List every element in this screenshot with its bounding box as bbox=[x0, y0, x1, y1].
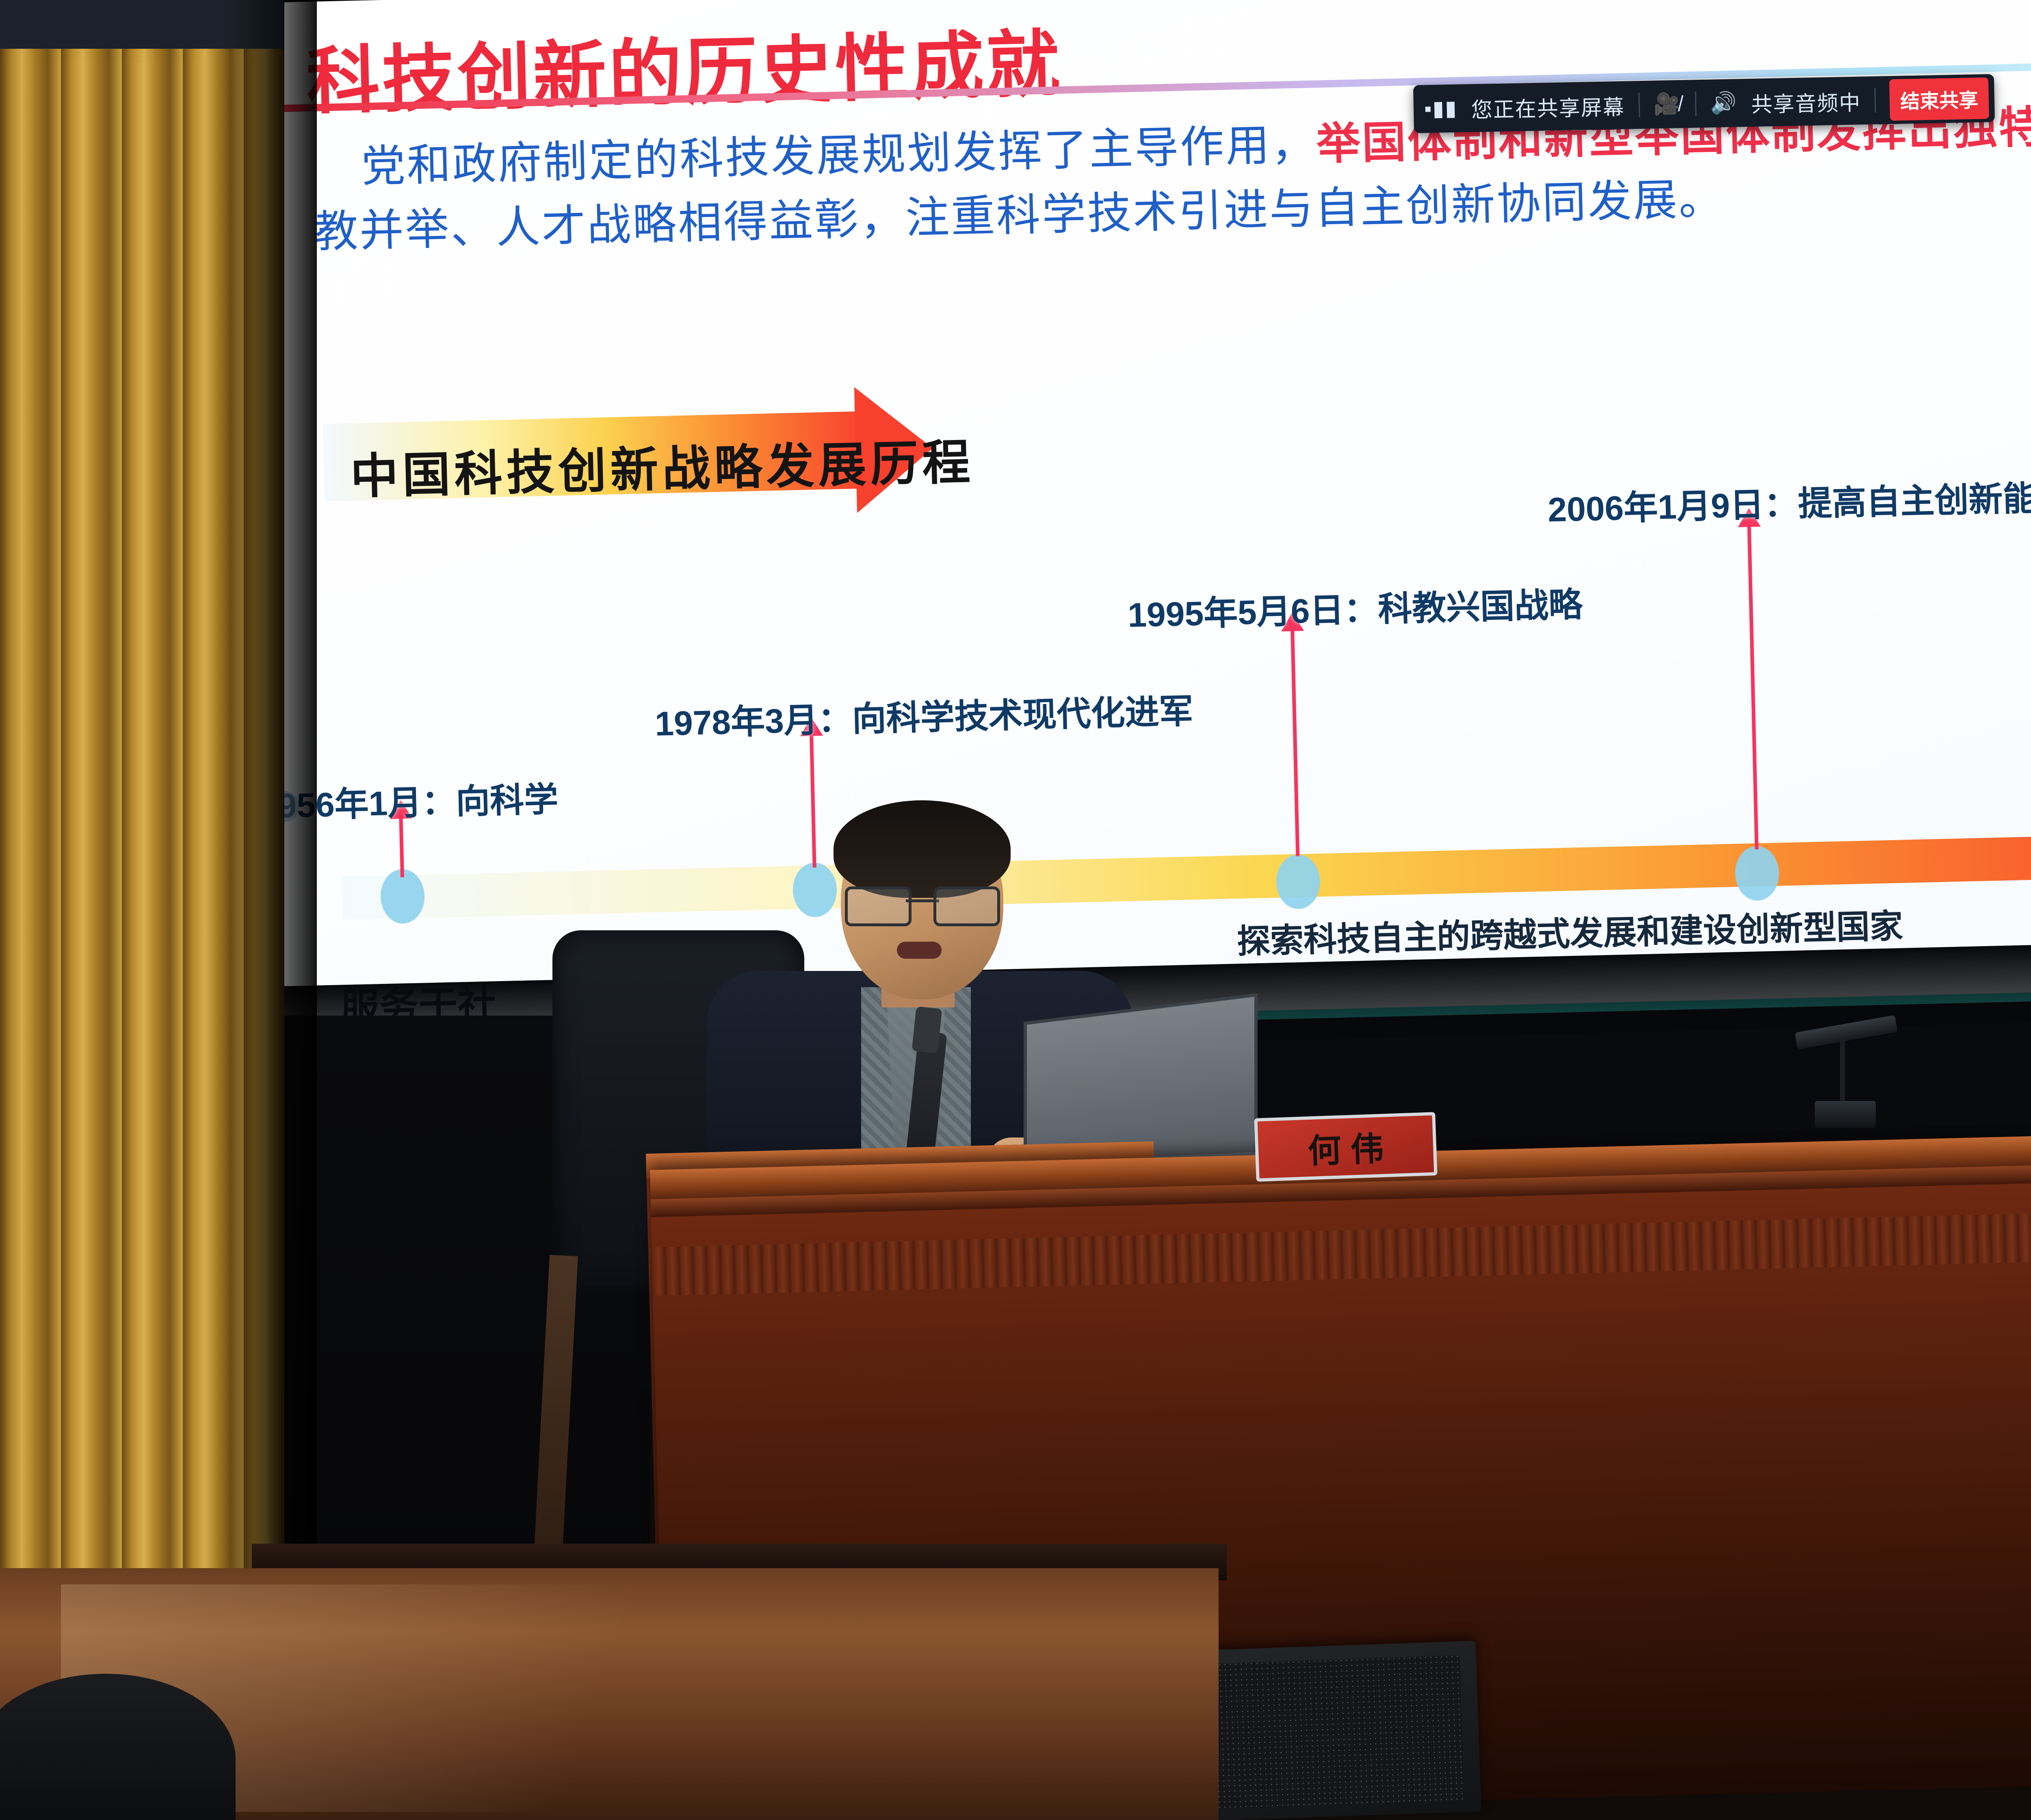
timeline-connector bbox=[1290, 628, 1299, 856]
handheld-microphone-head bbox=[912, 1006, 942, 1053]
share-audio-label: 共享音频中 bbox=[1751, 85, 1861, 118]
end-share-button[interactable]: 结束共享 bbox=[1889, 78, 1989, 121]
presenter-nameplate: 何 伟 bbox=[1254, 1112, 1437, 1181]
timeline-event-label-1978: 1978年3月：向科学技术现代化进军 bbox=[654, 684, 1194, 745]
paragraph-line-1: 党和政府制定的科技发展规划发挥了主导作用， bbox=[361, 119, 1317, 191]
curtain-shadow bbox=[227, 0, 317, 1637]
signal-bars-icon: ▪▮▮ bbox=[1424, 98, 1458, 120]
presenter-mouth bbox=[897, 942, 942, 959]
share-status-label: 您正在共享屏幕 bbox=[1471, 90, 1625, 123]
presenter-hair bbox=[834, 800, 1011, 898]
toolbar-divider bbox=[1638, 93, 1640, 117]
timeline-event-label-2006: 2006年1月9日：提高自主创新能力、建设创新型国家 bbox=[1547, 464, 2031, 532]
presenter-nameplate-text: 何 伟 bbox=[1307, 1121, 1385, 1172]
projection-screen: 科技创新的历史性成就 党和政府制定的科技发展规划发挥了主导作用，举国体制和新型举… bbox=[244, 0, 2031, 1064]
glasses-lens-right bbox=[933, 886, 1000, 926]
timeline-event-label-1995: 1995年5月6日：科教兴国战略 bbox=[1127, 577, 1583, 637]
glasses-icon bbox=[845, 886, 1000, 921]
toolbar-divider bbox=[1695, 91, 1697, 116]
paragraph-line-3: 同发展。 bbox=[1542, 174, 1725, 227]
toolbar-divider bbox=[1875, 88, 1876, 113]
glasses-lens-left bbox=[845, 886, 912, 926]
screenshot-root: 科技创新的历史性成就 党和政府制定的科技发展规划发挥了主导作用，举国体制和新型举… bbox=[0, 0, 2031, 1820]
speaker-icon[interactable]: 🔊 bbox=[1710, 92, 1738, 114]
presentation-slide: 科技创新的历史性成就 党和政府制定的科技发展规划发挥了主导作用，举国体制和新型举… bbox=[248, 0, 2031, 1043]
slide-title: 科技创新的历史性成就 bbox=[305, 4, 1063, 128]
timeline-connector bbox=[399, 816, 404, 877]
video-off-icon[interactable]: 🎥̸ bbox=[1653, 93, 1682, 115]
microphone-base bbox=[1815, 1101, 1876, 1128]
microphone-stem bbox=[1840, 1038, 1845, 1103]
timeline-connector bbox=[1747, 524, 1758, 849]
timeline-banner-label: 中国科技创新战略发展历程 bbox=[349, 423, 975, 507]
